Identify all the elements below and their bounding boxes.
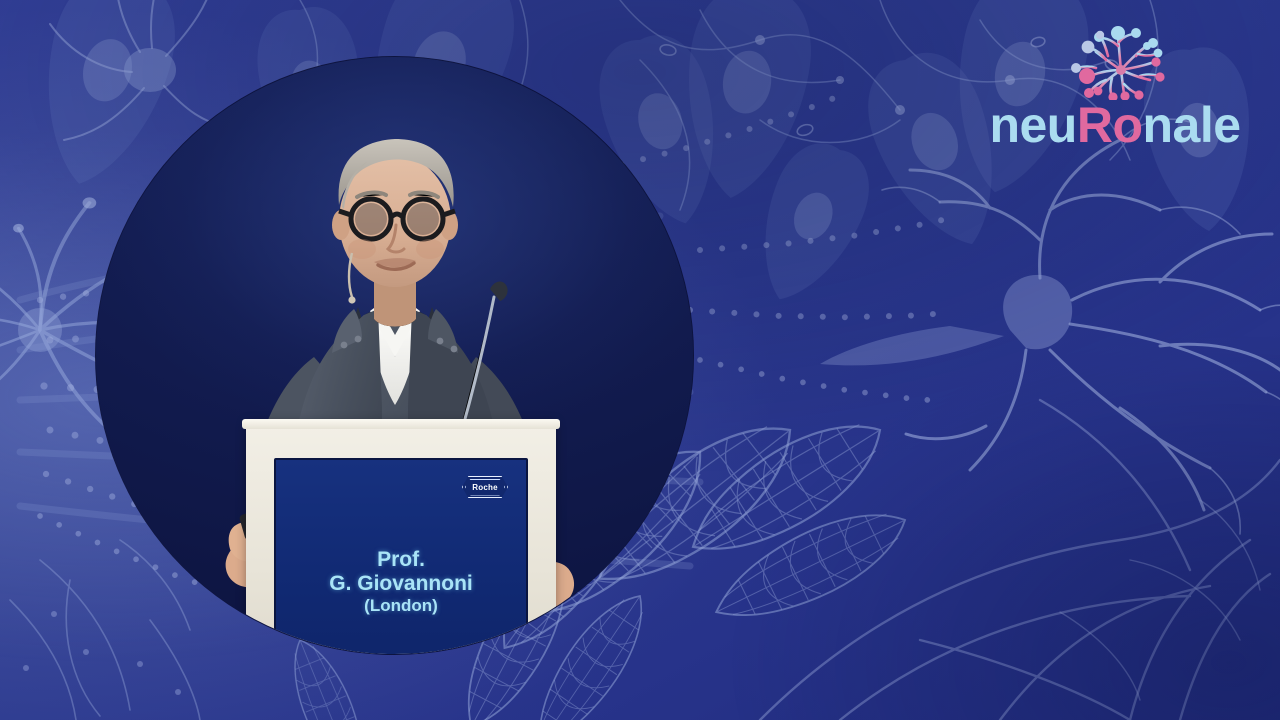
speaker-nameplate: Prof. G. Giovannoni (London)	[276, 548, 526, 615]
neuronale-wordmark: neuRonale	[974, 100, 1256, 150]
neuronale-logo: neuRonale	[974, 16, 1256, 150]
speaker-video-circle: Roche Prof. G. Giovannoni (London)	[96, 57, 693, 654]
wordmark-part-2: Ro	[1077, 97, 1143, 153]
speaker-name: G. Giovannoni	[276, 572, 526, 596]
wordmark-part-3: nale	[1143, 97, 1241, 153]
video-frame: Roche Prof. G. Giovannoni (London)	[0, 0, 1280, 720]
roche-wordmark: Roche	[462, 476, 508, 498]
speaker-title: Prof.	[276, 548, 526, 572]
lectern-screen: Roche Prof. G. Giovannoni (London)	[274, 458, 528, 654]
neuron-icon	[1066, 16, 1176, 100]
roche-logo: Roche	[462, 476, 508, 498]
lectern: Roche Prof. G. Giovannoni (London)	[246, 424, 556, 654]
lectern-top-edge	[242, 419, 560, 429]
speaker-city: (London)	[276, 596, 526, 615]
wordmark-part-1: neu	[989, 97, 1076, 153]
